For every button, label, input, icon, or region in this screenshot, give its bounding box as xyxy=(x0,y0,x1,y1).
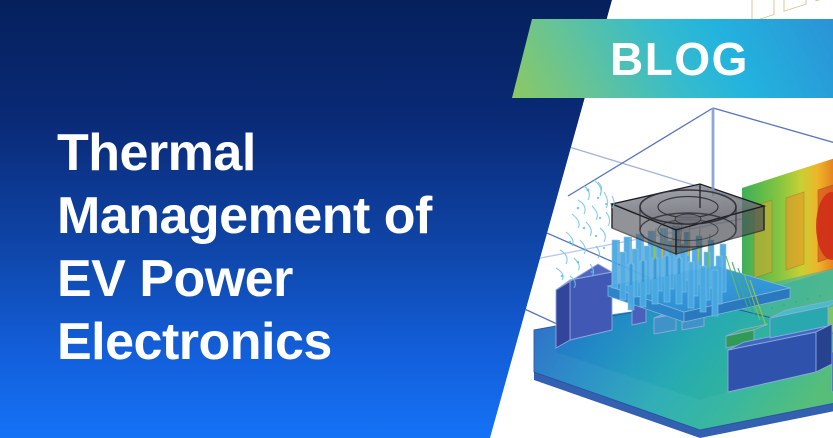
title-line-4: Electronics xyxy=(57,311,487,374)
title-line-2: Management of xyxy=(57,185,487,248)
title-line-1: Thermal xyxy=(57,122,487,185)
page-title: Thermal Management of EV Power Electroni… xyxy=(57,122,487,374)
title-line-3: EV Power xyxy=(57,248,487,311)
blog-banner: BLOG Thermal Management of EV Power Elec… xyxy=(0,0,833,438)
